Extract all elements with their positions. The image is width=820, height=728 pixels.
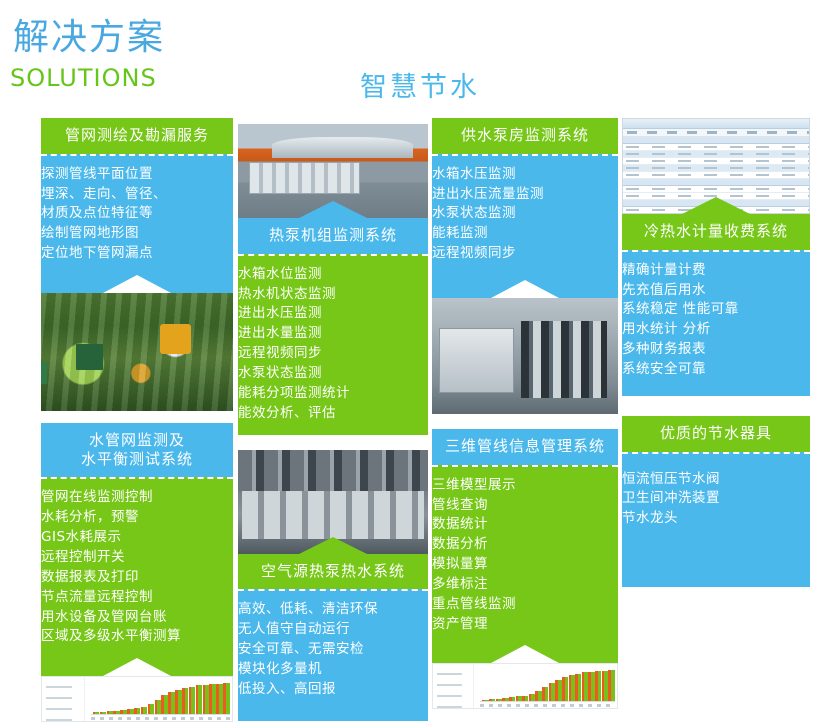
card-body-air-source: 高效、低耗、清洁环保 无人值守自动运行 安全可靠、无需安检 模块化多量机 低投入… [238,591,428,721]
card-body-heat-pump: 水箱水位监测 热水机状态监测 进出水压监测 进出水量监测 远程视频同步 水泵状态… [238,256,428,435]
list-item: 水箱水压监测 [432,165,618,185]
chart-legend [42,677,85,721]
card-title-line1: 水管网监测及 [45,431,229,450]
card-title: 三维管线信息管理系统 [445,437,605,455]
list-item: 恒流恒压节水阀 [622,470,810,490]
list-item: 能耗分项监测统计 [238,384,428,404]
software-titlebar [623,119,809,129]
list-item: 进出水量监测 [238,324,428,344]
card-body-pipe-monitor: 管网在线监测控制 水耗分析，预警 GIS水耗展示 远程控制开关 数据报表及打印 … [41,479,233,658]
list-item: 远程控制开关 [41,548,233,568]
list-item: 高效、低耗、清洁环保 [238,600,428,620]
column-1: 管网测绘及勘漏服务 探测管线平面位置 埋深、走向、管径、 材质及点位特征等 绘制… [41,118,233,728]
list-item: 探测管线平面位置 [41,165,233,185]
chart-bars [93,681,229,714]
card-title: 热泵机组监测系统 [269,226,397,244]
list-item: 定位地下管网漏点 [41,244,233,264]
card-header-pump-room: 供水泵房监测系统 [432,118,618,154]
list-item: 卫生间冲洗装置 [622,489,810,509]
notch-bottom [41,658,233,676]
list-item: 水泵状态监测 [238,364,428,384]
list-item: 用水统计 分析 [622,320,810,340]
list-item: 重点管线监测 [432,595,618,615]
list-item: 水泵状态监测 [432,204,618,224]
software-row [623,151,809,158]
card-pipe-monitor[interactable]: 水管网监测及 水平衡测试系统 管网在线监测控制 水耗分析，预警 GIS水耗展示 … [41,423,233,722]
card-header-pipe-survey: 管网测绘及勘漏服务 [41,118,233,154]
software-row [623,172,809,179]
chart-x-labels [480,704,615,707]
card-body-pipeline-3d: 三维模型展示 管线查询 数据统计 数据分析 模拟量算 多维标注 重点管线监测 资… [432,467,618,646]
list-item: 多种财务报表 [622,340,810,360]
card-title: 优质的节水器具 [660,424,772,442]
list-item: 无人值守自动运行 [238,620,428,640]
list-item: 远程视频同步 [432,244,618,264]
software-subheader [623,179,809,186]
card-header-air-source: 空气源热泵热水系统 [238,554,428,590]
list-item: 水耗分析，预警 [41,508,233,528]
list-item: 精确计量计费 [622,261,810,281]
card-body-pipe-survey: 探测管线平面位置 埋深、走向、管径、 材质及点位特征等 绘制管网地形图 定位地下… [41,156,233,275]
list-item: 先充值后用水 [622,281,810,301]
notch-bottom [432,645,618,663]
list-item: 安全可靠、无需安检 [238,640,428,660]
list-item: 资产管理 [432,615,618,635]
card-header-billing: 冷热水计量收费系统 [622,214,810,250]
list-item: 多维标注 [432,575,618,595]
software-row [623,158,809,165]
list-item: 管线查询 [432,496,618,516]
software-menubar [623,129,809,137]
software-row [623,186,809,193]
software-toolbar [623,137,809,144]
card-billing[interactable]: 冷热水计量收费系统 精确计量计费 先充值后用水 系统稳定 性能可靠 用水统计 分… [622,118,810,396]
list-item: 埋深、走向、管径、 [41,185,233,205]
card-header-pipeline-3d: 三维管线信息管理系统 [432,429,618,465]
list-item: 能耗监测 [432,224,618,244]
list-item: 热水机状态监测 [238,285,428,305]
card-title: 空气源热泵热水系统 [261,562,405,580]
list-item: 能效分析、评估 [238,404,428,424]
card-title-line2: 水平衡测试系统 [45,450,229,469]
card-title: 管网测绘及勘漏服务 [65,126,209,144]
card-body-pump-room: 水箱水压监测 进出水压流量监测 水泵状态监测 能耗监测 远程视频同步 [432,156,618,280]
list-item: 系统稳定 性能可靠 [622,300,810,320]
image-bar-chart-report [432,663,618,709]
list-item: 低投入、高回报 [238,680,428,700]
card-fixtures[interactable]: 优质的节水器具 恒流恒压节水阀 卫生间冲洗装置 节水龙头 [622,416,810,587]
list-item: 系统安全可靠 [622,360,810,380]
image-bar-chart-report [41,676,233,722]
list-item: 区域及多级水平衡测算 [41,627,233,647]
card-pump-room[interactable]: 供水泵房监测系统 水箱水压监测 进出水压流量监测 水泵状态监测 能耗监测 远程视… [432,118,618,414]
column-3: 供水泵房监测系统 水箱水压监测 进出水压流量监测 水泵状态监测 能耗监测 远程视… [432,118,618,715]
card-header-pipe-monitor: 水管网监测及 水平衡测试系统 [41,423,233,478]
card-header-heat-pump: 热泵机组监测系统 [238,218,428,254]
list-item: 三维模型展示 [432,476,618,496]
chart-plot [474,664,617,708]
card-heat-pump[interactable]: 热泵机组监测系统 水箱水位监测 热水机状态监测 进出水压监测 进出水量监测 远程… [238,124,428,435]
software-row [623,144,809,151]
notch-bottom [432,280,618,298]
notch-top [299,201,367,218]
chart-legend [433,664,474,708]
chart-x-labels [91,717,230,720]
chart-bars [482,668,614,701]
section-title: 智慧节水 [360,74,480,101]
chart-axis [91,714,230,715]
notch-top [682,197,750,214]
list-item: 模拟量算 [432,555,618,575]
list-item: 模块化多量机 [238,660,428,680]
list-item: 进出水压流量监测 [432,185,618,205]
chart-plot [85,677,232,721]
page-header: 解决方案 SOLUTIONS 智慧节水 [0,0,820,118]
image-water-pump-room [432,298,618,414]
chart-axis [480,701,615,702]
list-item: 用水设备及管网台账 [41,608,233,628]
list-item: 材质及点位特征等 [41,204,233,224]
card-header-fixtures: 优质的节水器具 [622,416,810,452]
list-item: 节水龙头 [622,509,810,529]
notch-bottom [41,275,233,293]
card-body-fixtures: 恒流恒压节水阀 卫生间冲洗装置 节水龙头 [622,454,810,588]
list-item: 管网在线监测控制 [41,488,233,508]
card-pipe-survey[interactable]: 管网测绘及勘漏服务 探测管线平面位置 埋深、走向、管径、 材质及点位特征等 绘制… [41,118,233,411]
page-subtitle: SOLUTIONS [10,66,157,90]
card-air-source[interactable]: 空气源热泵热水系统 高效、低耗、清洁环保 无人值守自动运行 安全可靠、无需安检 … [238,450,428,722]
page-title: 解决方案 [13,20,165,56]
image-surveyors [41,293,233,411]
list-item: 节点流量远程控制 [41,588,233,608]
list-item: 进出水压监测 [238,304,428,324]
list-item: 远程视频同步 [238,344,428,364]
list-item: GIS水耗展示 [41,528,233,548]
notch-top [299,537,367,554]
column-2: 热泵机组监测系统 水箱水位监测 热水机状态监测 进出水压监测 进出水量监测 远程… [238,118,428,727]
card-title: 冷热水计量收费系统 [644,222,788,240]
software-row [623,165,809,172]
list-item: 水箱水位监测 [238,265,428,285]
list-item: 绘制管网地形图 [41,224,233,244]
card-title: 供水泵房监测系统 [461,126,589,144]
solutions-board: 管网测绘及勘漏服务 探测管线平面位置 埋深、走向、管径、 材质及点位特征等 绘制… [0,118,820,648]
card-body-billing: 精确计量计费 先充值后用水 系统稳定 性能可靠 用水统计 分析 多种财务报表 系… [622,252,810,396]
list-item: 数据统计 [432,515,618,535]
list-item: 数据分析 [432,535,618,555]
card-pipeline-3d[interactable]: 三维管线信息管理系统 三维模型展示 管线查询 数据统计 数据分析 模拟量算 多维… [432,429,618,710]
list-item: 数据报表及打印 [41,568,233,588]
column-4: 冷热水计量收费系统 精确计量计费 先充值后用水 系统稳定 性能可靠 用水统计 分… [622,118,810,593]
